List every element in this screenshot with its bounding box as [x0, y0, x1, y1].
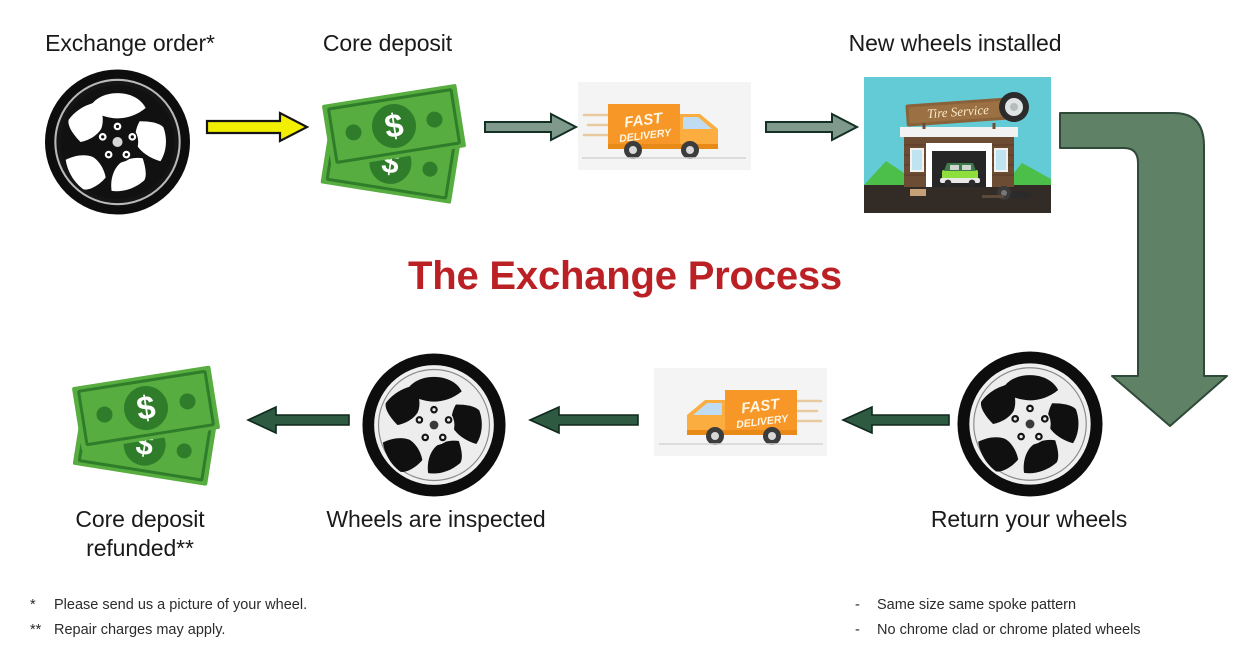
- wheel-dark-icon: [40, 68, 195, 216]
- footnote-marker: **: [30, 618, 54, 643]
- footnote-item: ** Repair charges may apply.: [30, 618, 307, 643]
- arrow-shipping-to-install: [765, 112, 859, 142]
- footnote-text: Same size same spoke pattern: [877, 593, 1076, 618]
- footnote-text: Please send us a picture of your wheel.: [54, 593, 307, 618]
- footnote-item: - Same size same spoke pattern: [855, 593, 1141, 618]
- footnotes-right: - Same size same spoke pattern - No chro…: [855, 593, 1141, 643]
- label-exchange-order: Exchange order*: [0, 29, 260, 58]
- label-new-wheels-installed: New wheels installed: [800, 29, 1110, 58]
- delivery-truck-icon: FAST DELIVERY: [578, 82, 751, 170]
- footnote-marker: -: [855, 593, 877, 618]
- money-refund-icon: $ $: [58, 352, 234, 488]
- page-title: The Exchange Process: [0, 254, 1250, 299]
- footnote-marker: -: [855, 618, 877, 643]
- footnote-text: No chrome clad or chrome plated wheels: [877, 618, 1141, 643]
- arrow-order-to-deposit: [205, 110, 310, 144]
- arrow-return-to-shipping: [840, 405, 950, 435]
- label-core-deposit-refunded: Core deposit refunded**: [30, 505, 250, 564]
- tire-service-garage-icon: Tire Service: [864, 77, 1051, 213]
- footnote-text: Repair charges may apply.: [54, 618, 225, 643]
- arrow-deposit-to-shipping: [484, 112, 578, 142]
- money-icon: $ $: [308, 70, 478, 205]
- label-return-your-wheels: Return your wheels: [893, 505, 1165, 534]
- label-wheels-inspected: Wheels are inspected: [300, 505, 572, 534]
- label-core-deposit: Core deposit: [280, 29, 495, 58]
- arrow-shipping-to-inspect: [527, 405, 639, 435]
- wheel-light-icon: [954, 350, 1106, 498]
- footnote-marker: *: [30, 593, 54, 618]
- exchange-process-diagram: Exchange order* Core deposit New wheels …: [0, 0, 1250, 666]
- footnote-item: * Please send us a picture of your wheel…: [30, 593, 307, 618]
- footnotes-left: * Please send us a picture of your wheel…: [30, 593, 307, 643]
- delivery-truck-return-icon: FAST DELIVERY: [654, 368, 827, 456]
- footnote-item: - No chrome clad or chrome plated wheels: [855, 618, 1141, 643]
- wheel-inspect-icon: [358, 352, 510, 498]
- arrow-inspect-to-refund: [245, 405, 350, 435]
